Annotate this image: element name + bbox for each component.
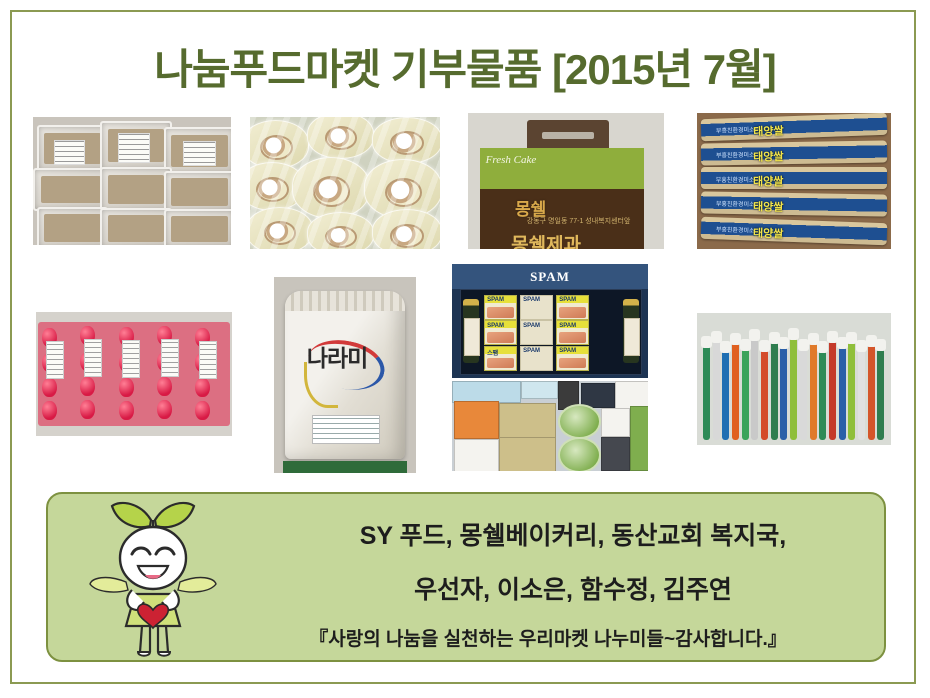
photo-4-bag-label: 태양쌀: [753, 147, 784, 164]
photo-4-bag-sublabel: 부흥친환경미소: [716, 199, 755, 209]
photo-4-bag-sublabel: 부흥친환경미소: [716, 225, 755, 235]
mascot-sprout-character: [88, 498, 218, 658]
photo-2-roll-cakes: [250, 117, 440, 249]
photo-4-bag-label: 태양쌀: [753, 173, 783, 189]
photo-4-rice-bags: 부흥친환경미소 태양쌀 부흥친환경미소 태양쌀 부흥친환경미소 태양쌀 부흥친환…: [697, 113, 891, 249]
photo-6-sack-label: 나라미: [307, 348, 383, 405]
caption-line-2: 우선자, 이소은, 함수정, 김주연: [253, 570, 893, 606]
photo-7-brand-label: SPAM: [452, 269, 648, 285]
photo-4-bag-sublabel: 부흥친환경미소: [716, 175, 755, 184]
caption-line-1: SY 푸드, 몽쉘베이커리, 동산교회 복지국,: [253, 516, 893, 552]
photo-9-toothbrushes: [697, 313, 891, 445]
poster-canvas: 나눔푸드마켓 기부물품 [2015년 7월]: [0, 0, 930, 698]
photo-5-eggs: [36, 312, 232, 436]
photo-4-bag-label: 태양쌀: [753, 225, 784, 242]
photo-7-korean-can-label: 스팸: [487, 348, 498, 357]
page-title: 나눔푸드마켓 기부물품 [2015년 7월]: [0, 36, 930, 97]
photo-4-bag-label: 태양쌀: [753, 122, 784, 139]
photo-4-bag-sublabel: 부흥친환경미소: [716, 124, 755, 134]
photo-3-cake-box: Fresh Cake 몽쉘 강동구 명일동 77-1 성내복지센터앞 몽쉘제과: [468, 113, 664, 249]
caption-quote: 『사랑의 나눔을 실천하는 우리마켓 나누미들~감사합니다.』: [198, 624, 898, 651]
photo-3-sub-text: 강동구 명일동 77-1 성내복지센터앞: [527, 216, 631, 226]
photo-3-brand-text: Fresh Cake: [486, 154, 537, 166]
photo-4-bag-sublabel: 부흥친환경미소: [716, 150, 755, 160]
photo-8-cosmetics-boxes: [452, 381, 648, 471]
photo-4-bag-label: 태양쌀: [753, 198, 784, 215]
photo-6-rice-sack: 나라미: [274, 277, 416, 473]
photo-7-spam-gift-set: SPAM SPAM SPAM SPAM SPAM SPAM SPAM 스팸 SP…: [452, 264, 648, 378]
photo-3-bottom-text: 몽쉘제과: [511, 230, 581, 249]
photo-1-food-containers: [33, 117, 231, 245]
